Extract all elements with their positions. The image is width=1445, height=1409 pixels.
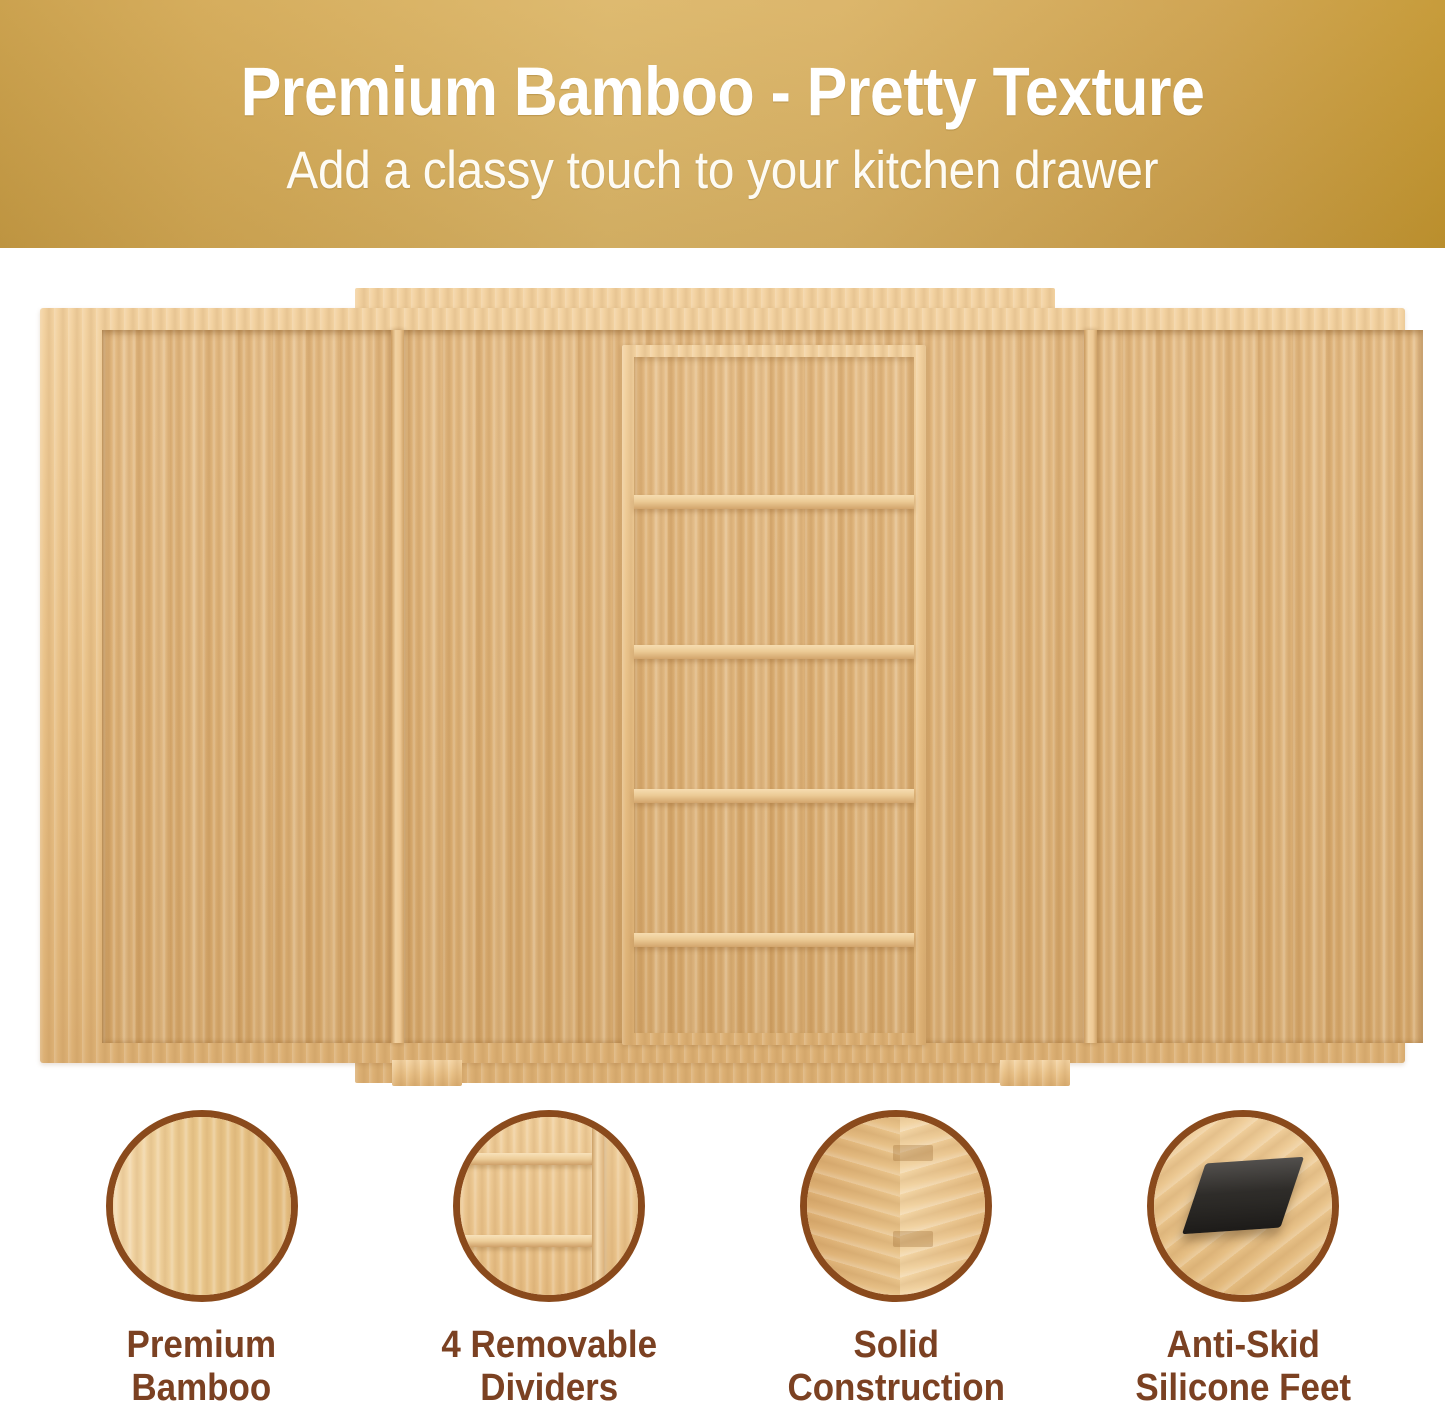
dividers-texture-fill: [460, 1117, 638, 1295]
feature-removable-dividers: 4 Removable Dividers: [399, 1110, 699, 1409]
shelf-divider-2: [634, 645, 914, 659]
product-image: [0, 248, 1445, 1098]
finger-joint-notch-1: [893, 1145, 933, 1161]
feature-label-premium-bamboo: Premium Bamboo: [127, 1324, 277, 1409]
icon-shelf-2: [460, 1235, 595, 1247]
drawer-tray-interior: [102, 330, 1423, 1043]
center-insert-interior: [634, 357, 914, 1033]
expansion-tab-right: [1000, 1060, 1070, 1086]
shelf-divider-3: [634, 789, 914, 803]
finger-joint-notch-2: [893, 1231, 933, 1247]
center-insert-tray: [622, 345, 926, 1045]
feature-premium-bamboo: Premium Bamboo: [52, 1110, 352, 1409]
expansion-tab-left: [392, 1060, 462, 1086]
bamboo-texture-fill: [113, 1117, 291, 1295]
feature-label-removable-dividers: 4 Removable Dividers: [441, 1324, 657, 1409]
header-banner: Premium Bamboo - Pretty Texture Add a cl…: [0, 0, 1445, 248]
bamboo-board-icon: [106, 1110, 298, 1302]
shelf-divider-1: [634, 495, 914, 509]
feature-anti-skid-feet: Anti-Skid Silicone Feet: [1093, 1110, 1393, 1409]
feature-highlights-row: Premium Bamboo 4 Removable Dividers Soli…: [0, 1110, 1445, 1409]
vertical-divider-2: [1084, 330, 1097, 1043]
icon-vertical-divider: [592, 1117, 604, 1295]
corner-joint-icon: [800, 1110, 992, 1302]
page-subtitle: Add a classy touch to your kitchen drawe…: [287, 144, 1159, 197]
joint-left-face: [807, 1117, 900, 1295]
foot-texture-fill: [1154, 1117, 1332, 1295]
black-silicone-pad: [1182, 1156, 1304, 1234]
drawer-tray-outer: [40, 308, 1405, 1063]
silicone-foot-icon: [1147, 1110, 1339, 1302]
page-title: Premium Bamboo - Pretty Texture: [241, 57, 1205, 126]
joint-right-face: [900, 1117, 985, 1295]
vertical-divider-1: [391, 330, 404, 1043]
feature-solid-construction: Solid Construction: [746, 1110, 1046, 1409]
shelf-divider-4: [634, 933, 914, 947]
joint-texture-fill: [807, 1117, 985, 1295]
icon-shelf-1: [460, 1153, 595, 1165]
feature-label-anti-skid-feet: Anti-Skid Silicone Feet: [1136, 1324, 1352, 1409]
feature-label-solid-construction: Solid Construction: [787, 1324, 1005, 1409]
dividers-icon: [453, 1110, 645, 1302]
